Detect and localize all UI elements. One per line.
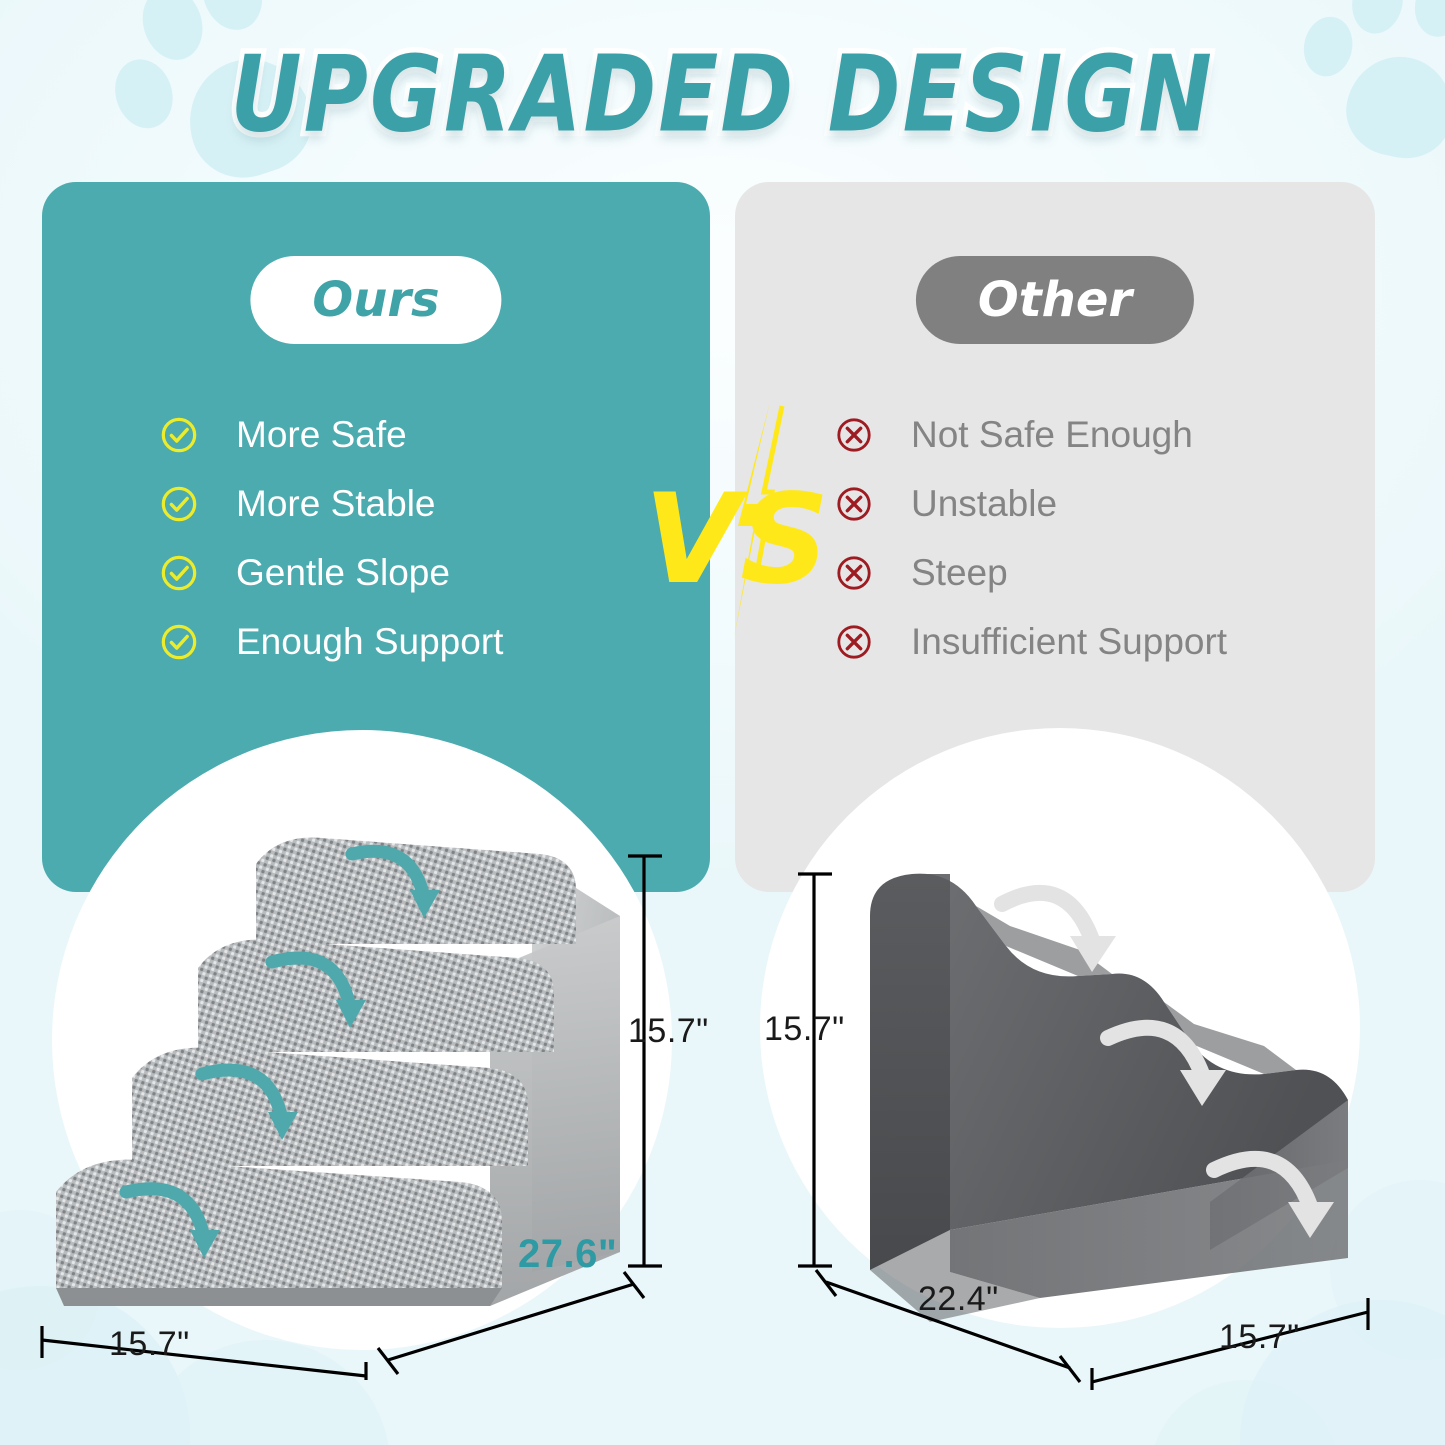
feature-item: Gentle Slope [160, 538, 658, 607]
badge-ours: Ours [250, 256, 501, 344]
versus-mark: VS [638, 400, 838, 640]
versus-text: VS [644, 468, 829, 612]
check-circle-icon [160, 554, 198, 592]
dimension-height-ours: 15.7" [628, 1012, 709, 1051]
feature-item: Not Safe Enough [835, 400, 1323, 469]
feature-item: Steep [835, 538, 1323, 607]
feature-label: More Stable [236, 485, 436, 522]
cross-circle-icon [835, 623, 873, 661]
cross-circle-icon [835, 554, 873, 592]
cross-circle-icon [835, 416, 873, 454]
check-circle-icon [160, 416, 198, 454]
check-circle-icon [160, 485, 198, 523]
dimension-width-other: 15.7" [1219, 1318, 1300, 1357]
dimension-height-other: 15.7" [764, 1010, 845, 1049]
feature-item: Enough Support [160, 607, 658, 676]
feature-label: Enough Support [236, 623, 503, 660]
feature-item: Unstable [835, 469, 1323, 538]
cross-circle-icon [835, 485, 873, 523]
feature-item: More Stable [160, 469, 658, 538]
feature-list-ours: More Safe More Stable Gentle Slope [42, 400, 710, 676]
product-image-ours [20, 820, 700, 1380]
dimension-width-ours: 15.7" [109, 1325, 190, 1364]
dimension-depth-other: 22.4" [918, 1280, 999, 1319]
product-image-other [740, 830, 1420, 1390]
feature-label: Steep [911, 554, 1008, 591]
feature-item: Insufficient Support [835, 607, 1323, 676]
feature-label: More Safe [236, 416, 407, 453]
page-title: UPGRADED DESIGN [0, 34, 1445, 134]
check-circle-icon [160, 623, 198, 661]
feature-label: Gentle Slope [236, 554, 450, 591]
badge-other: Other [916, 256, 1194, 344]
feature-label: Insufficient Support [911, 623, 1227, 660]
feature-item: More Safe [160, 400, 658, 469]
feature-label: Not Safe Enough [911, 416, 1193, 453]
page-title-text: UPGRADED DESIGN [231, 34, 1215, 156]
dimension-depth-ours: 27.6" [518, 1232, 617, 1277]
feature-label: Unstable [911, 485, 1057, 522]
infographic-poster: UPGRADED DESIGN Ours More Safe More Stab… [0, 0, 1445, 1445]
